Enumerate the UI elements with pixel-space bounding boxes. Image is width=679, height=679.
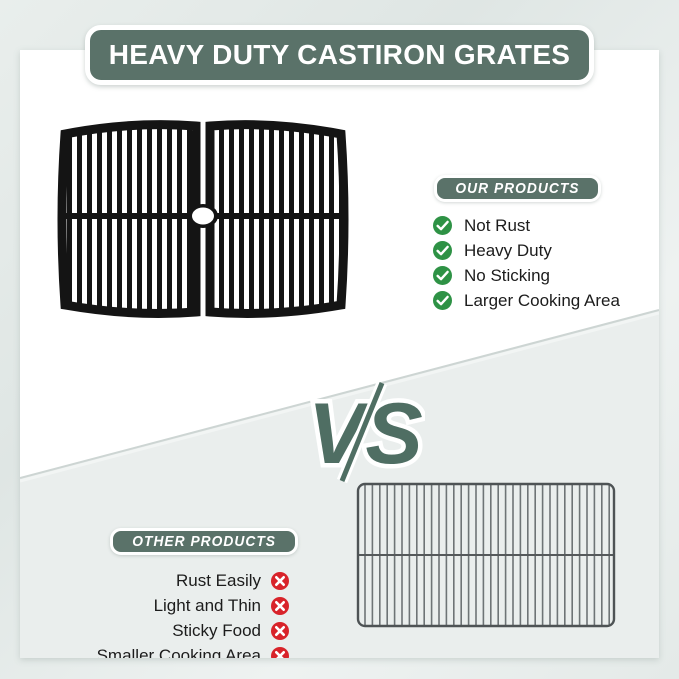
list-item: Smaller Cooking Area	[60, 643, 290, 658]
list-item-label: Light and Thin	[154, 596, 261, 616]
list-item: Rust Easily	[60, 568, 290, 593]
x-circle-icon	[270, 621, 290, 641]
check-circle-icon	[432, 215, 453, 236]
infographic-frame: VS	[0, 0, 679, 679]
cast-iron-grate-image	[53, 112, 353, 332]
check-circle-icon	[432, 290, 453, 311]
other-products-badge-label: OTHER PRODUCTS	[132, 533, 276, 550]
list-item-label: Not Rust	[464, 216, 530, 236]
header-banner: HEAVY DUTY CASTIRON GRATES	[85, 25, 594, 85]
list-item: Not Rust	[432, 213, 620, 238]
list-item-label: No Sticking	[464, 266, 550, 286]
our-products-badge-label: OUR PRODUCTS	[455, 180, 579, 197]
list-item: Sticky Food	[60, 618, 290, 643]
chrome-wire-grate-image	[350, 475, 622, 640]
list-item-label: Rust Easily	[176, 571, 261, 591]
other-products-list: Rust Easily Light and Thin Sticky Food	[60, 568, 290, 658]
x-circle-icon	[270, 571, 290, 591]
list-item-label: Sticky Food	[172, 621, 261, 641]
x-circle-icon	[270, 596, 290, 616]
our-products-list: Not Rust Heavy Duty No Sticking	[432, 213, 620, 313]
x-circle-icon	[270, 646, 290, 659]
check-circle-icon	[432, 265, 453, 286]
content-card: VS	[20, 50, 659, 658]
list-item: Larger Cooking Area	[432, 288, 620, 313]
versus-divider: VS	[300, 375, 425, 485]
list-item-label: Heavy Duty	[464, 241, 552, 261]
list-item: Light and Thin	[60, 593, 290, 618]
other-products-badge: OTHER PRODUCTS	[110, 528, 298, 555]
check-circle-icon	[432, 240, 453, 261]
list-item-label: Larger Cooking Area	[464, 291, 620, 311]
page-title: HEAVY DUTY CASTIRON GRATES	[109, 39, 571, 71]
list-item-label: Smaller Cooking Area	[97, 646, 261, 659]
list-item: No Sticking	[432, 263, 620, 288]
our-products-badge: OUR PRODUCTS	[434, 175, 601, 202]
list-item: Heavy Duty	[432, 238, 620, 263]
